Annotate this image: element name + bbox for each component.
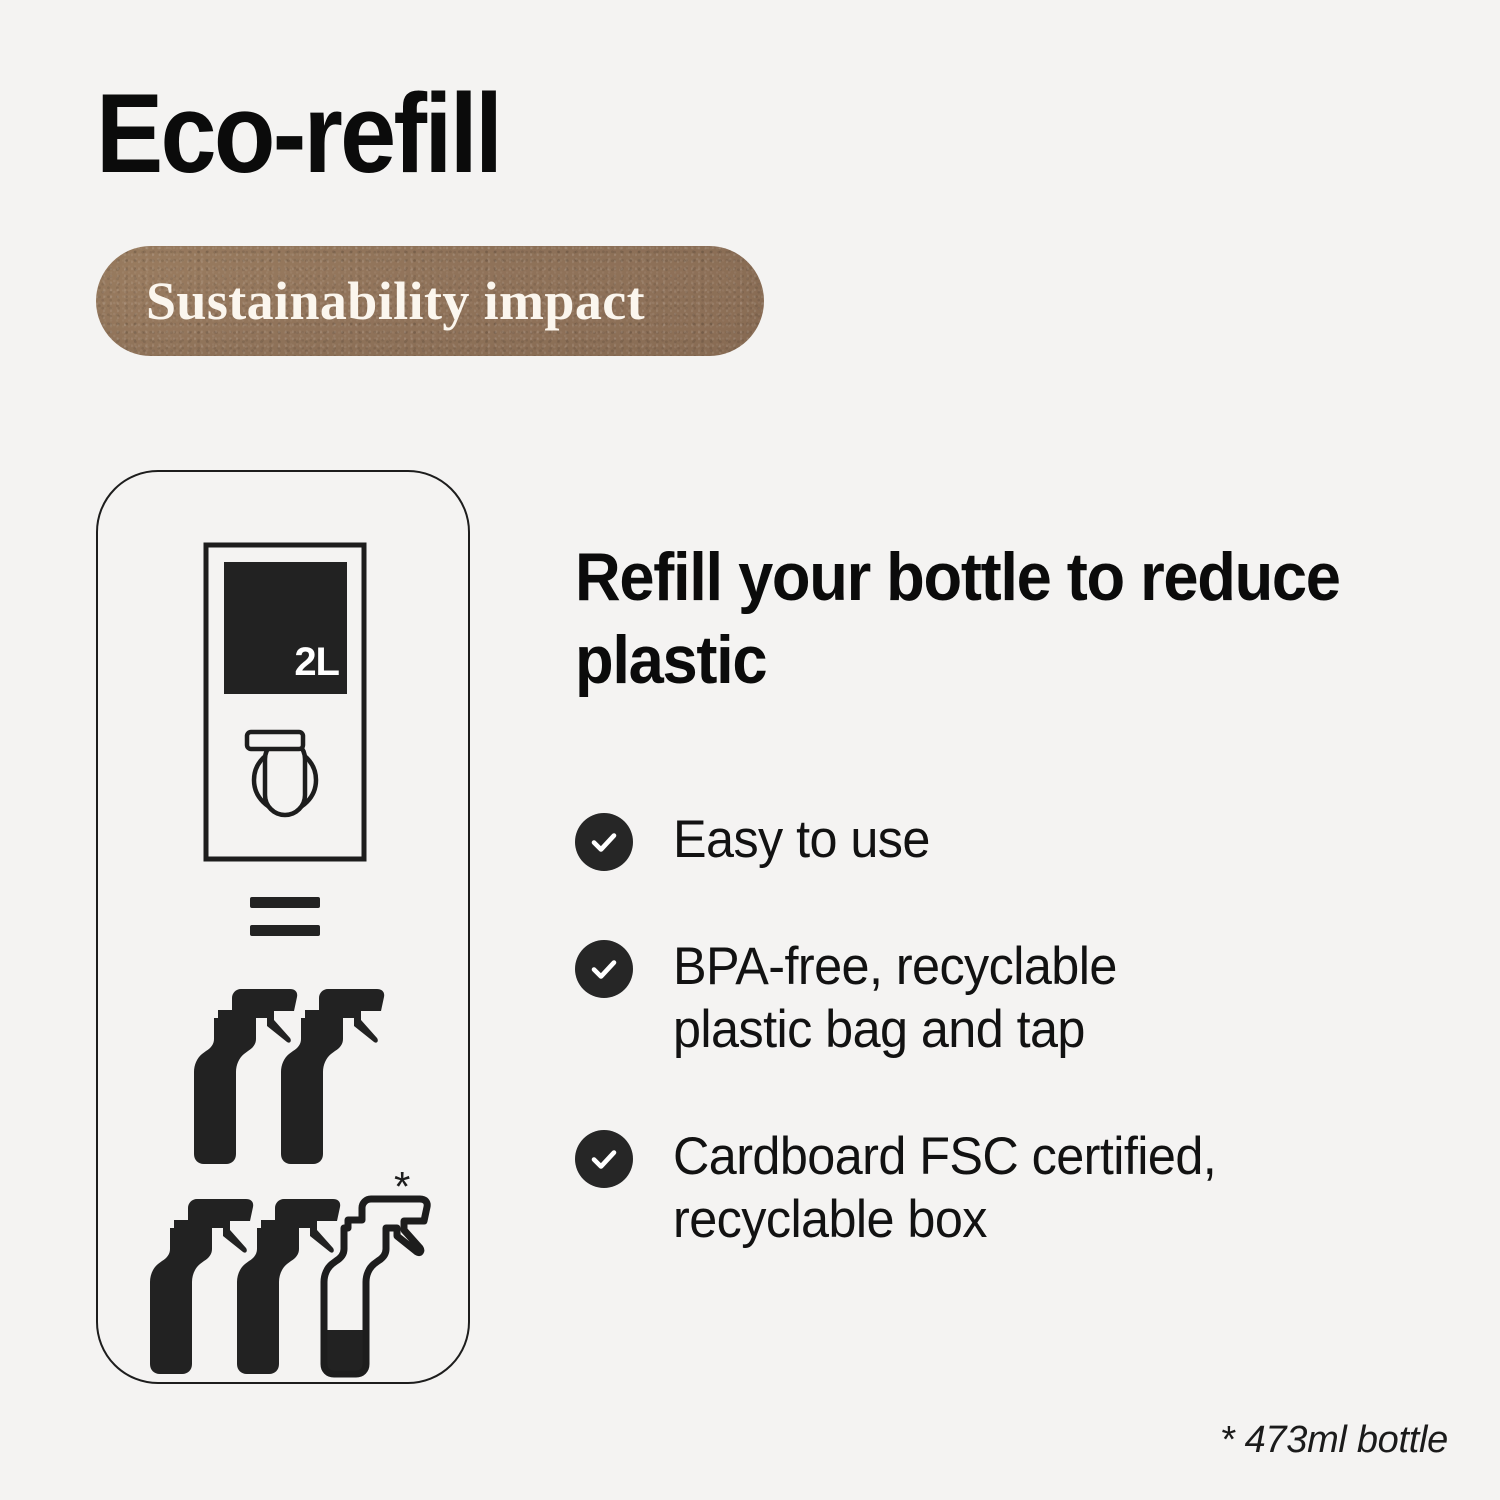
content-column: Refill your bottle to reduce plastic Eas… — [575, 536, 1435, 702]
list-item-label: BPA-free, recyclable plastic bag and tap — [673, 935, 1117, 1062]
check-icon — [575, 940, 633, 998]
footnote-asterisk-marker: * — [394, 1166, 410, 1208]
refill-equation-illustration: 2L — [98, 472, 472, 1386]
box-volume-label: 2L — [294, 640, 339, 684]
list-item: Easy to use — [575, 808, 1435, 872]
list-item: BPA-free, recyclable plastic bag and tap — [575, 935, 1435, 1062]
sustainability-impact-badge: Sustainability impact — [96, 246, 764, 356]
refill-box-icon: 2L — [206, 545, 364, 859]
infographic-canvas: Eco-refill Sustainability impact 2L — [0, 0, 1500, 1500]
check-icon — [575, 1130, 633, 1188]
benefits-list: Easy to use BPA-free, recyclable plastic… — [575, 808, 1435, 1252]
page-title: Eco-refill — [96, 78, 500, 190]
spray-bottle-filled-icon — [281, 989, 384, 1164]
equals-icon — [250, 897, 320, 936]
check-icon — [575, 813, 633, 871]
tap-icon — [247, 732, 316, 815]
spray-bottle-partial-icon — [320, 1199, 440, 1386]
content-heading: Refill your bottle to reduce plastic — [575, 536, 1375, 702]
list-item: Cardboard FSC certified, recyclable box — [575, 1125, 1435, 1252]
illustration-panel: 2L — [96, 470, 470, 1384]
list-item-label: Easy to use — [673, 808, 930, 872]
list-item-label: Cardboard FSC certified, recyclable box — [673, 1125, 1216, 1252]
bottle-row-2 — [150, 1199, 440, 1386]
footnote: * 473ml bottle — [1220, 1419, 1448, 1462]
bottle-row-1 — [194, 989, 384, 1164]
badge-label: Sustainability impact — [146, 270, 645, 332]
